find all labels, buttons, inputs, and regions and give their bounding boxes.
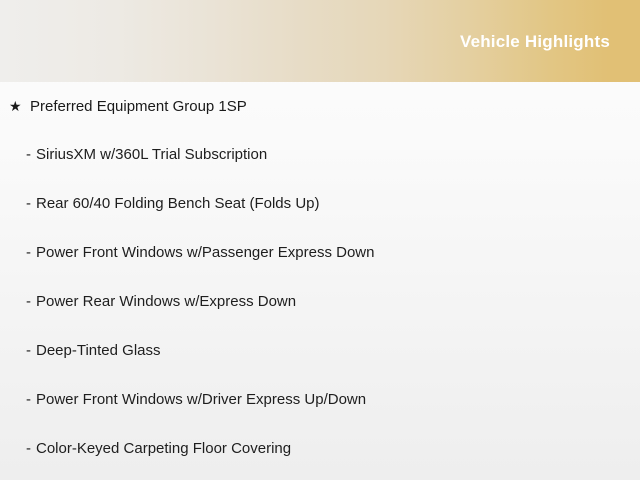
highlight-subitem-label: Color-Keyed Carpeting Floor Covering [36,439,291,459]
list-item: -Power Rear Windows w/Express Down [0,292,640,341]
vehicle-highlights-page: Vehicle Highlights ★Preferred Equipment … [0,0,640,480]
dash-bullet-icon: - [26,341,36,361]
list-item: -Power Front Windows w/Driver Express Up… [0,390,640,439]
list-item: ★Preferred Equipment Group 1SP [0,96,640,145]
list-item: -SiriusXM w/360L Trial Subscription [0,145,640,194]
highlight-subitem-label: Deep-Tinted Glass [36,341,161,361]
dash-bullet-icon: - [26,243,36,263]
dash-bullet-icon: - [26,390,36,410]
list-item: -Deep-Tinted Glass [0,341,640,390]
dash-bullet-icon: - [26,292,36,312]
dash-bullet-icon: - [26,145,36,165]
highlight-item-label: Preferred Equipment Group 1SP [30,97,247,117]
highlight-subitem-label: SiriusXM w/360L Trial Subscription [36,145,267,165]
vehicle-highlights-list: ★Preferred Equipment Group 1SP-SiriusXM … [0,82,640,480]
highlight-subitem-label: Power Rear Windows w/Express Down [36,292,296,312]
highlight-subitem-label: Power Front Windows w/Driver Express Up/… [36,390,366,410]
page-header-banner: Vehicle Highlights [0,0,640,82]
highlight-subitem-label: Power Front Windows w/Passenger Express … [36,243,374,263]
page-title: Vehicle Highlights [460,33,610,50]
dash-bullet-icon: - [26,439,36,459]
list-item: -Power Front Windows w/Passenger Express… [0,243,640,292]
dash-bullet-icon: - [26,194,36,214]
list-item: -Rear 60/40 Folding Bench Seat (Folds Up… [0,194,640,243]
list-item: -Color-Keyed Carpeting Floor Covering [0,439,640,480]
star-bullet-icon: ★ [0,96,30,116]
highlight-subitem-label: Rear 60/40 Folding Bench Seat (Folds Up) [36,194,319,214]
